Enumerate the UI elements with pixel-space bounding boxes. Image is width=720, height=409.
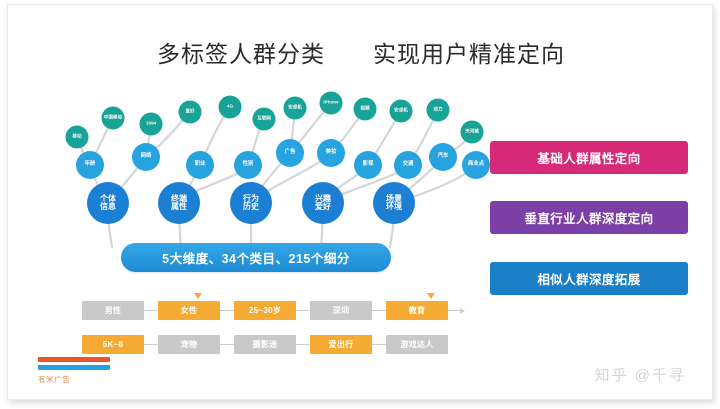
tag-row-top: 男性女性25~30岁深圳教育 [82, 301, 464, 320]
tree-node-tier2-2: 职业 [186, 151, 214, 179]
bubble-label-line2: 爱好 [315, 203, 331, 211]
bubble-label: 交通 [403, 162, 414, 168]
bubble-label-line2: 属性 [171, 203, 187, 211]
bubble-label: 爱好 [185, 110, 194, 115]
tree-node-tier3-7: iPhone [320, 92, 343, 115]
tag-pointer-icon-right [427, 293, 435, 299]
bubble-label: iPhone [323, 101, 338, 106]
page-title-text: 多标签人群分类 实现用户精准定向 [157, 35, 565, 69]
bubble-label: 4G [227, 105, 233, 110]
tag-item[interactable]: 深圳 [310, 301, 372, 320]
tree-node-tier2-3: 性别 [234, 151, 262, 179]
logo-bar-blue-icon [38, 365, 110, 370]
tree-node-tier1-1: 终端属性 [158, 182, 200, 224]
tag-connector-line [144, 310, 158, 311]
bubble-label: 中国移动 [104, 116, 122, 121]
tag-connector-line [296, 310, 310, 311]
tag-item[interactable]: 摄影迷 [234, 335, 296, 354]
bubble-label: 安卓机 [288, 106, 302, 111]
tree-node-tier2-4: 广告 [276, 139, 304, 167]
tree-node-tier3-2: 1994 [140, 113, 163, 136]
bubble-label: 安卓机 [394, 109, 408, 114]
tree-node-tier3-5: 互联网 [253, 108, 276, 131]
tag-item[interactable]: 25~30岁 [234, 301, 296, 320]
tag-item[interactable]: 教育 [386, 301, 448, 320]
bubble-label: 影视 [363, 162, 374, 168]
tree-node-tier1-0: 个体信息 [87, 182, 129, 224]
tree-node-tier1-3: 兴趣爱好 [302, 182, 344, 224]
tree-node-tier3-1: 中国移动 [102, 107, 125, 130]
tree-node-tier2-8: 汽车 [429, 143, 457, 171]
tree-node-tier3-10: 动力 [427, 99, 450, 122]
bubble-label-line2: 信息 [100, 203, 116, 211]
bubble-label: 视频 [360, 107, 369, 112]
tree-node-tier3-8: 视频 [354, 98, 377, 121]
bubble-label: 网络 [141, 154, 152, 160]
tag-connector-line [220, 344, 234, 345]
slide-frame: 多标签人群分类 实现用户精准定向 [7, 4, 713, 400]
tree-node-tier2-0: 年龄 [76, 151, 104, 179]
tag-item[interactable]: 5K~8 [82, 335, 144, 354]
tree-node-tier2-1: 网络 [132, 143, 160, 171]
bubble-label: 互联网 [257, 117, 271, 122]
bubble-label-line2: 环境 [386, 203, 402, 211]
tree-node-tier2-5: 美妆 [317, 139, 345, 167]
logo-text: 有米广告 [38, 374, 122, 385]
page-title: 多标签人群分类 实现用户精准定向 [8, 35, 714, 69]
tag-connector-line [144, 344, 158, 345]
bubble-label: 美妆 [326, 150, 337, 156]
tag-item[interactable]: 游戏达人 [386, 335, 448, 354]
tree-node-tier3-9: 安卓机 [390, 100, 413, 123]
tree-node-tier2-6: 影视 [354, 151, 382, 179]
bubble-label: 年龄 [85, 162, 96, 168]
watermark: 知乎 @千寻 [595, 364, 686, 385]
bubble-label: 汽车 [438, 154, 449, 160]
bubble-label: 商业点 [468, 162, 484, 168]
bubble-label: 动力 [433, 108, 442, 113]
bubble-label: 1994 [146, 122, 156, 127]
tree-node-tier2-7: 交通 [394, 151, 422, 179]
tag-connector-line [220, 310, 234, 311]
tag-item[interactable]: 男性 [82, 301, 144, 320]
bubble-label-line2: 历史 [243, 203, 259, 211]
slide-canvas: 多标签人群分类 实现用户精准定向 [0, 0, 720, 409]
tag-row-bottom: 5K~8宠物摄影迷爱出行游戏达人 [82, 335, 448, 354]
tree-node-tier2-9: 商业点 [462, 151, 490, 179]
logo-bar-orange-icon [38, 357, 110, 362]
tree-node-tier3-6: 安卓机 [284, 97, 307, 120]
tree-node-tier3-11: 天河城 [461, 121, 484, 144]
tag-pointer-icon-left [194, 293, 202, 299]
targeting-bar-vertical[interactable]: 垂直行业人群深度定向 [490, 201, 688, 234]
tree-node-tier3-0: 移动 [66, 126, 89, 149]
bubble-label: 职业 [195, 162, 206, 168]
tag-row-arrow-icon [448, 310, 464, 311]
tree-node-tier1-2: 行为历史 [230, 182, 272, 224]
bubble-label: 广告 [285, 150, 296, 156]
tag-item[interactable]: 女性 [158, 301, 220, 320]
bubble-label: 性别 [243, 162, 254, 168]
tag-connector-line [372, 310, 386, 311]
tag-item[interactable]: 爱出行 [310, 335, 372, 354]
tree-node-tier3-4: 4G [219, 96, 242, 119]
tag-item[interactable]: 宠物 [158, 335, 220, 354]
tree-node-tier1-4: 场景环境 [373, 182, 415, 224]
bubble-label: 移动 [72, 135, 81, 140]
tag-connector-line [372, 344, 386, 345]
brand-logo: 有米广告 [38, 357, 122, 385]
summary-banner: 5大维度、34个类目、215个细分 [121, 243, 391, 272]
tag-connector-line [296, 344, 310, 345]
tree-node-tier3-3: 爱好 [179, 101, 202, 124]
targeting-bar-basic[interactable]: 基础人群属性定向 [490, 141, 688, 174]
targeting-bar-lookalike[interactable]: 相似人群深度拓展 [490, 262, 688, 295]
bubble-label: 天河城 [465, 130, 479, 135]
